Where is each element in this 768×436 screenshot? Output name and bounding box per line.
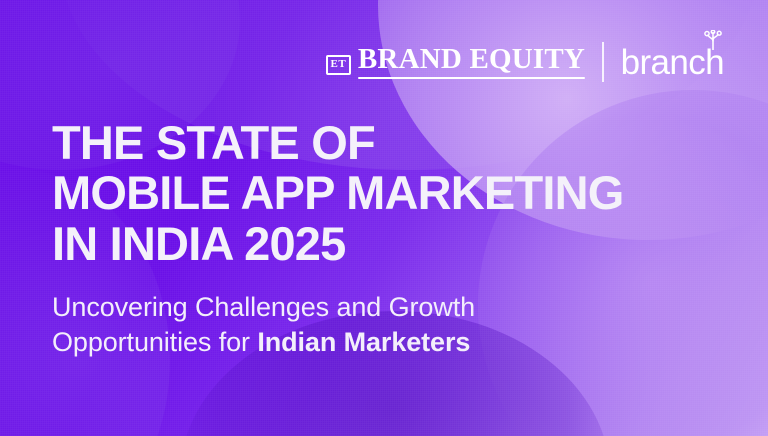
headline-line-3: IN INDIA 2025 bbox=[52, 219, 624, 269]
branch-sprout-icon bbox=[700, 30, 726, 50]
logo-divider bbox=[602, 42, 604, 82]
subtitle-line-2: Opportunities for Indian Marketers bbox=[52, 325, 624, 360]
subtitle-line-1: Uncovering Challenges and Growth bbox=[52, 290, 624, 325]
branch-logo: branch bbox=[621, 45, 724, 80]
et-badge: ET bbox=[326, 55, 351, 75]
report-cover-banner: ET Brand Equity branch THE STATE OF bbox=[0, 0, 768, 436]
brand-equity-label: Brand Equity bbox=[358, 45, 585, 74]
headline-line-1: THE STATE OF bbox=[52, 118, 624, 168]
headline-line-2: MOBILE APP MARKETING bbox=[52, 168, 624, 218]
branch-wordmark-label: branch bbox=[621, 45, 724, 80]
brand-equity-wordmark: Brand Equity bbox=[358, 45, 585, 79]
page-subtitle: Uncovering Challenges and Growth Opportu… bbox=[52, 290, 624, 360]
subtitle-line-2-prefix: Opportunities for bbox=[52, 327, 257, 357]
cover-text-block: THE STATE OF MOBILE APP MARKETING IN IND… bbox=[52, 118, 624, 360]
page-title: THE STATE OF MOBILE APP MARKETING IN IND… bbox=[52, 118, 624, 269]
brand-equity-underline bbox=[358, 77, 585, 79]
subtitle-line-2-emphasis: Indian Marketers bbox=[257, 327, 470, 357]
et-badge-label: ET bbox=[331, 59, 347, 70]
logo-lockup: ET Brand Equity branch bbox=[326, 42, 724, 82]
et-brand-equity-logo: ET Brand Equity bbox=[326, 45, 585, 79]
